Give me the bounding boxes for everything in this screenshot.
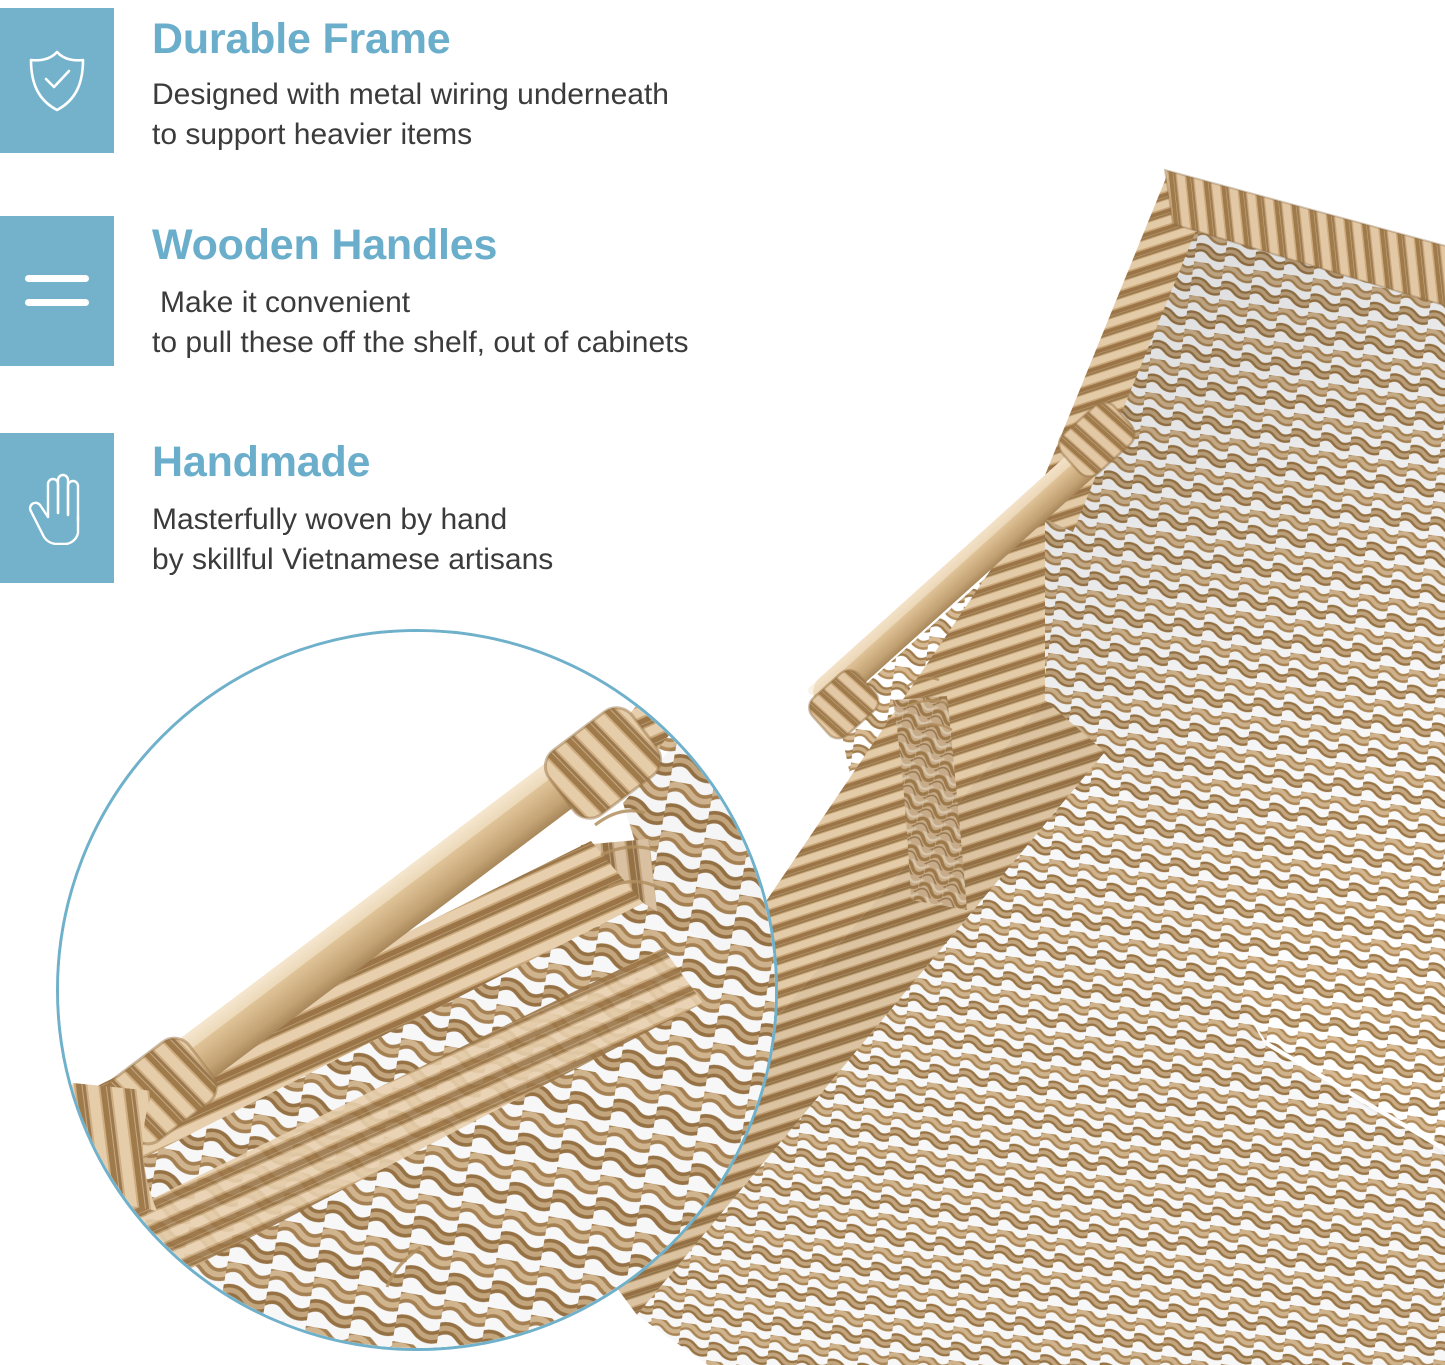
icon-tile-wooden-handles [0, 216, 114, 366]
shield-check-icon [26, 48, 88, 114]
feature-description: Masterfully woven by hand by skillful Vi… [152, 500, 553, 579]
feature-description-line-2: by skillful Vietnamese artisans [152, 540, 553, 580]
feature-description-line-1: Designed with metal wiring underneath [152, 78, 669, 111]
feature-description: Designed with metal wiring underneath to… [152, 75, 669, 154]
feature-description-line-2: to support heavier items [152, 115, 669, 155]
feature-title: Durable Frame [152, 18, 669, 61]
feature-text-handmade: Handmade Masterfully woven by hand by sk… [152, 441, 553, 579]
feature-description-line-1: Masterfully woven by hand [152, 503, 507, 536]
infographic-canvas: Durable Frame Designed with metal wiring… [0, 0, 1445, 1365]
open-hand-icon [26, 471, 88, 545]
feature-description-line-2: to pull these off the shelf, out of cabi… [152, 323, 688, 363]
double-bar-handle-icon [25, 271, 89, 311]
feature-title: Handmade [152, 441, 553, 484]
icon-tile-handmade [0, 433, 114, 583]
feature-text-wooden-handles: Wooden Handles Make it convenient to pul… [152, 224, 688, 362]
feature-title: Wooden Handles [152, 224, 688, 267]
handle-detail-zoom-circle [56, 629, 778, 1351]
feature-description-line-1: Make it convenient [152, 286, 410, 319]
feature-text-durable-frame: Durable Frame Designed with metal wiring… [152, 18, 669, 154]
icon-tile-durable-frame [0, 8, 114, 153]
feature-description: Make it convenient to pull these off the… [152, 283, 688, 362]
